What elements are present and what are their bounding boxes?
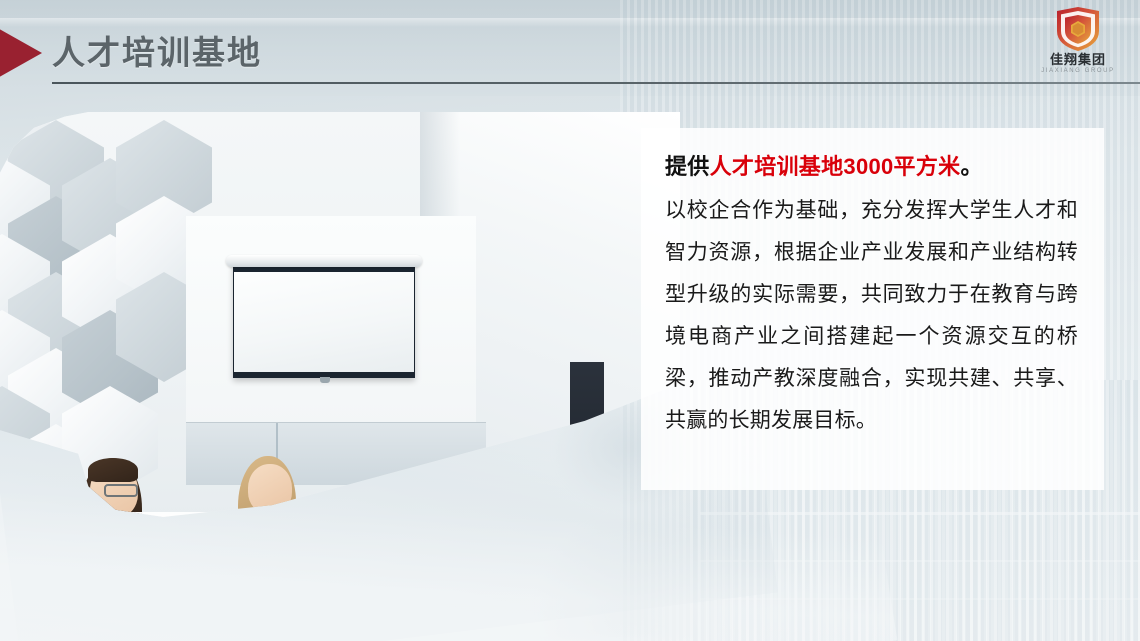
projector-screen (234, 272, 414, 372)
panel-body-text: 以校企合作为基础，充分发挥大学生人才和智力资源，根据企业产业发展和产业结构转型升… (665, 190, 1078, 442)
page-title: 人才培训基地 (52, 26, 262, 80)
lead-prefix: 提供 (665, 154, 710, 179)
red-arrow-icon (0, 26, 42, 80)
person-2-fringe (88, 458, 138, 482)
person-2-glasses (104, 484, 138, 497)
company-logo: 佳翔集团 JIAXIANG GROUP (1032, 4, 1124, 80)
projector-screen-knob (320, 377, 330, 383)
description-panel: 提供人才培训基地3000平方米。 以校企合作为基础，充分发挥大学生人才和智力资源… (641, 128, 1104, 490)
lead-highlight: 人才培训基地3000平方米 (710, 154, 961, 179)
lead-suffix: 。 (960, 154, 982, 179)
panel-lead-line: 提供人才培训基地3000平方米。 (665, 150, 1078, 184)
slide-header: 人才培训基地 (0, 0, 1140, 96)
slide-root: 人才培训基地 佳翔集团 JIAXIANG GROUP (0, 0, 1140, 641)
logo-en-name: JIAXIANG GROUP (1032, 67, 1124, 75)
shield-hexagon-icon (1054, 6, 1102, 52)
logo-cn-name: 佳翔集团 (1032, 52, 1124, 67)
projector-screen-housing (226, 255, 422, 267)
title-divider (52, 82, 1140, 84)
